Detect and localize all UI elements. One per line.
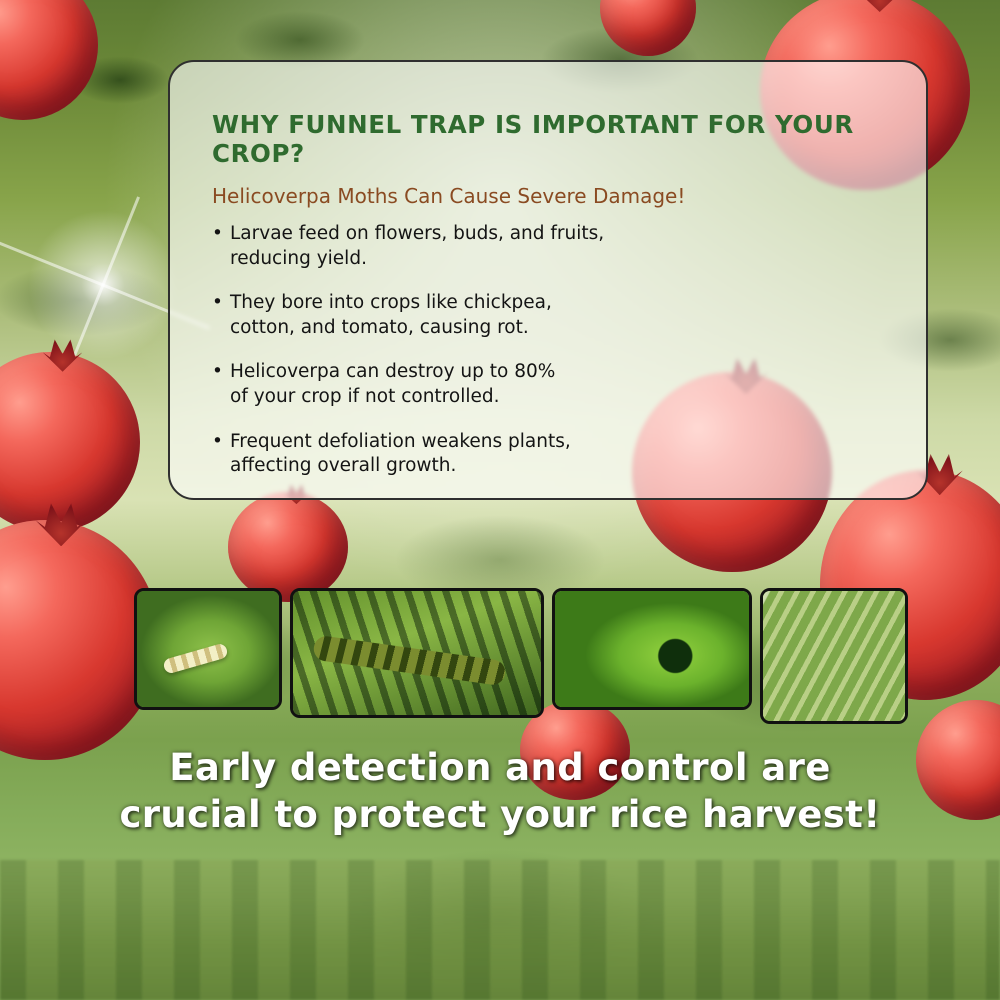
green-larva-boring-fruit-photo	[552, 588, 752, 710]
card-title: WHY FUNNEL TRAP IS IMPORTANT FOR YOUR CR…	[212, 110, 884, 168]
larva-on-stem-field-photo	[760, 588, 908, 724]
damage-bullet-list: Larvae feed on flowers, buds, and fruits…	[212, 222, 884, 479]
bullet-item: Helicoverpa can destroy up to 80% of you…	[212, 360, 884, 409]
poster-image: WHY FUNNEL TRAP IS IMPORTANT FOR YOUR CR…	[0, 0, 1000, 1000]
sun-flare-icon	[18, 200, 188, 370]
distant-orchard-rows	[0, 860, 1000, 1000]
bullet-item: Larvae feed on flowers, buds, and fruits…	[212, 222, 884, 271]
pomegranate-fruit	[228, 492, 348, 602]
bullet-item: Frequent defoliation weakens plants, aff…	[212, 430, 884, 479]
caterpillar-on-bud-photo	[134, 588, 282, 710]
bullet-item: They bore into crops like chickpea, cott…	[212, 291, 884, 340]
larvae-on-damaged-pods-photo	[290, 588, 544, 718]
info-card: WHY FUNNEL TRAP IS IMPORTANT FOR YOUR CR…	[168, 60, 928, 500]
card-subtitle: Helicoverpa Moths Can Cause Severe Damag…	[212, 184, 884, 208]
poster-caption: Early detection and control are crucial …	[0, 744, 1000, 839]
thumbnail-strip	[134, 588, 908, 724]
